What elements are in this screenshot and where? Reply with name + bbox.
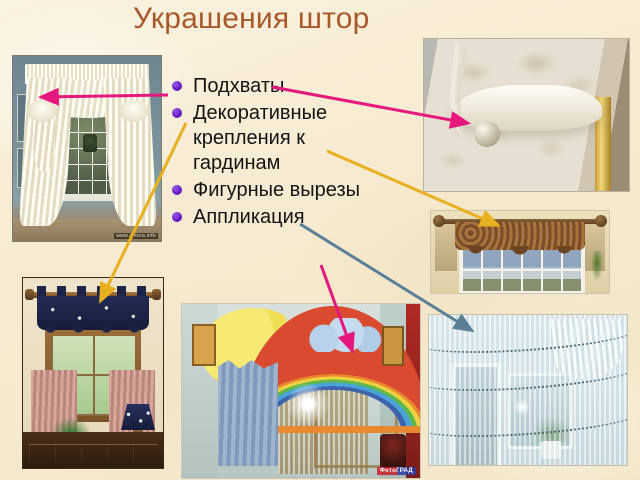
curtain-tail	[33, 118, 55, 172]
tieback-bow-left	[27, 100, 57, 122]
carved-valance	[455, 222, 585, 250]
tieback-ball-finial	[474, 121, 500, 147]
photo-ornate-carved-valance	[430, 210, 610, 294]
list-item-label: Подхваты	[193, 75, 284, 97]
toy-object	[380, 434, 406, 470]
light-glare	[513, 399, 531, 415]
list-item: Аппликация	[170, 205, 385, 230]
cloud-applique	[302, 318, 386, 352]
photo-cord-tieback-closeup	[423, 38, 630, 192]
list-item: Подхваты	[170, 74, 385, 99]
list-item: Декоративные крепления к гардинам	[170, 101, 385, 176]
slide-canvas: www.shtora.info	[0, 0, 640, 480]
list-item: Фигурные вырезы	[170, 178, 385, 203]
slide-title: Украшения штор	[133, 2, 433, 36]
list-item-label: Аппликация	[193, 206, 305, 228]
bullet-dot-icon	[172, 81, 182, 91]
photo-kids-room-rainbow-applique: ФотоГРАД	[181, 303, 421, 479]
bullet-dot-icon	[172, 212, 182, 222]
list-item-label: Декоративные крепления к гардинам	[193, 102, 327, 174]
rod-finial-left	[25, 289, 34, 300]
framed-picture-icon	[382, 326, 404, 366]
side-drape-left	[435, 223, 457, 271]
list-item-label: Фигурные вырезы	[193, 179, 360, 201]
framed-picture-icon	[192, 324, 216, 366]
bullet-dot-icon	[172, 185, 182, 195]
photo-scalloped-sheer-curtain	[428, 314, 628, 466]
photo-watermark: www.shtora.info	[114, 233, 158, 239]
blue-curtain-panel	[218, 360, 278, 466]
plant-foliage	[591, 251, 603, 281]
wooden-dresser	[23, 432, 163, 468]
photo-priscilla-curtains-with-tiebacks: www.shtora.info	[12, 55, 162, 242]
rod-finial-right	[152, 289, 161, 300]
rod-finial-right	[595, 215, 607, 227]
bullet-list: Подхваты Декоративные крепления к гардин…	[170, 74, 385, 232]
polka-dot-valance	[37, 296, 149, 330]
rod-finial-left	[433, 215, 445, 227]
bullet-dot-icon	[172, 108, 182, 118]
light-glare	[286, 384, 330, 424]
lamp-silhouette	[83, 134, 97, 152]
photo-country-kitchen-tab-valance	[22, 277, 164, 469]
tieback-bow-right	[119, 100, 149, 122]
photo-watermark: ФотоГРАД	[377, 467, 416, 475]
